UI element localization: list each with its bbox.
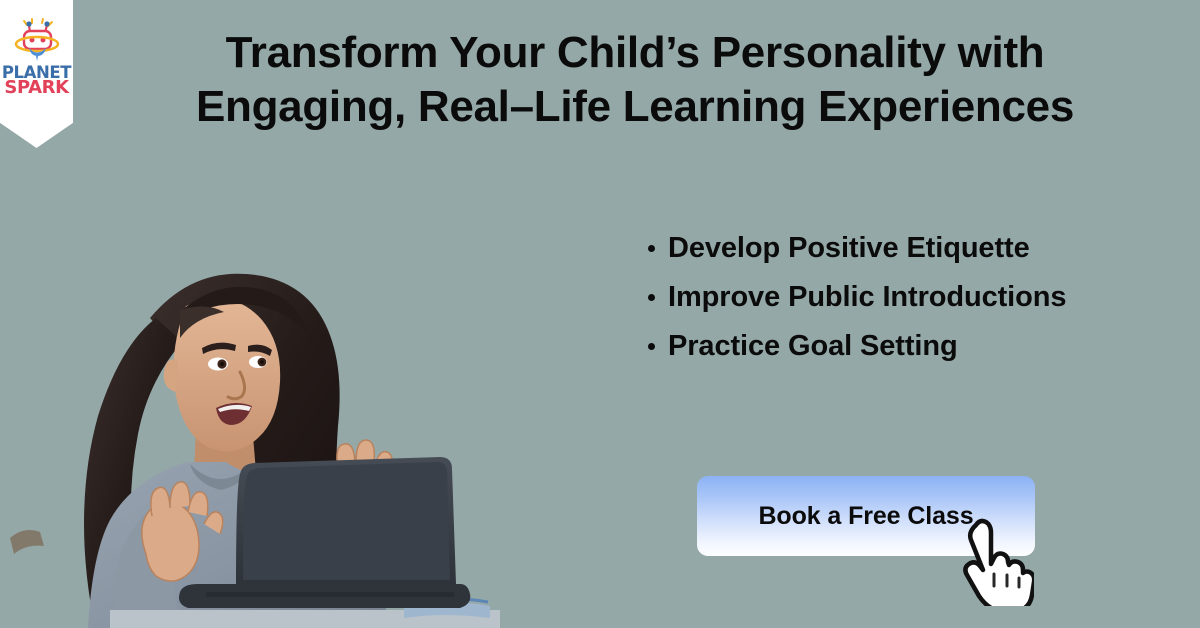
headline-line-2: Engaging, Real–Life Learning Experiences	[140, 80, 1130, 134]
page-title: Transform Your Child’s Personality with …	[140, 26, 1130, 133]
list-item: Develop Positive Etiquette	[648, 228, 1066, 269]
headline-line-1: Transform Your Child’s Personality with	[140, 26, 1130, 80]
brand-logo[interactable]: PLANET SPARK	[0, 0, 73, 148]
bullet-dot-icon	[648, 294, 655, 301]
cta-container: Book a Free Class	[697, 476, 1035, 556]
student-photo	[0, 248, 500, 628]
planet-spark-robot-icon	[11, 16, 63, 62]
promo-banner: PLANET SPARK Transform Your Child’s Pers…	[0, 0, 1200, 628]
benefit-label: Practice Goal Setting	[668, 326, 958, 367]
bullet-dot-icon	[648, 245, 655, 252]
brand-name-line2: SPARK	[2, 80, 71, 97]
benefit-label: Develop Positive Etiquette	[668, 228, 1030, 269]
list-item: Practice Goal Setting	[648, 326, 1066, 367]
cta-label: Book a Free Class	[758, 502, 973, 531]
benefits-list: Develop Positive Etiquette Improve Publi…	[648, 228, 1066, 376]
list-item: Improve Public Introductions	[648, 277, 1066, 318]
bullet-dot-icon	[648, 343, 655, 350]
brand-wordmark: PLANET SPARK	[2, 65, 71, 97]
benefit-label: Improve Public Introductions	[668, 277, 1066, 318]
book-free-class-button[interactable]: Book a Free Class	[697, 476, 1035, 556]
